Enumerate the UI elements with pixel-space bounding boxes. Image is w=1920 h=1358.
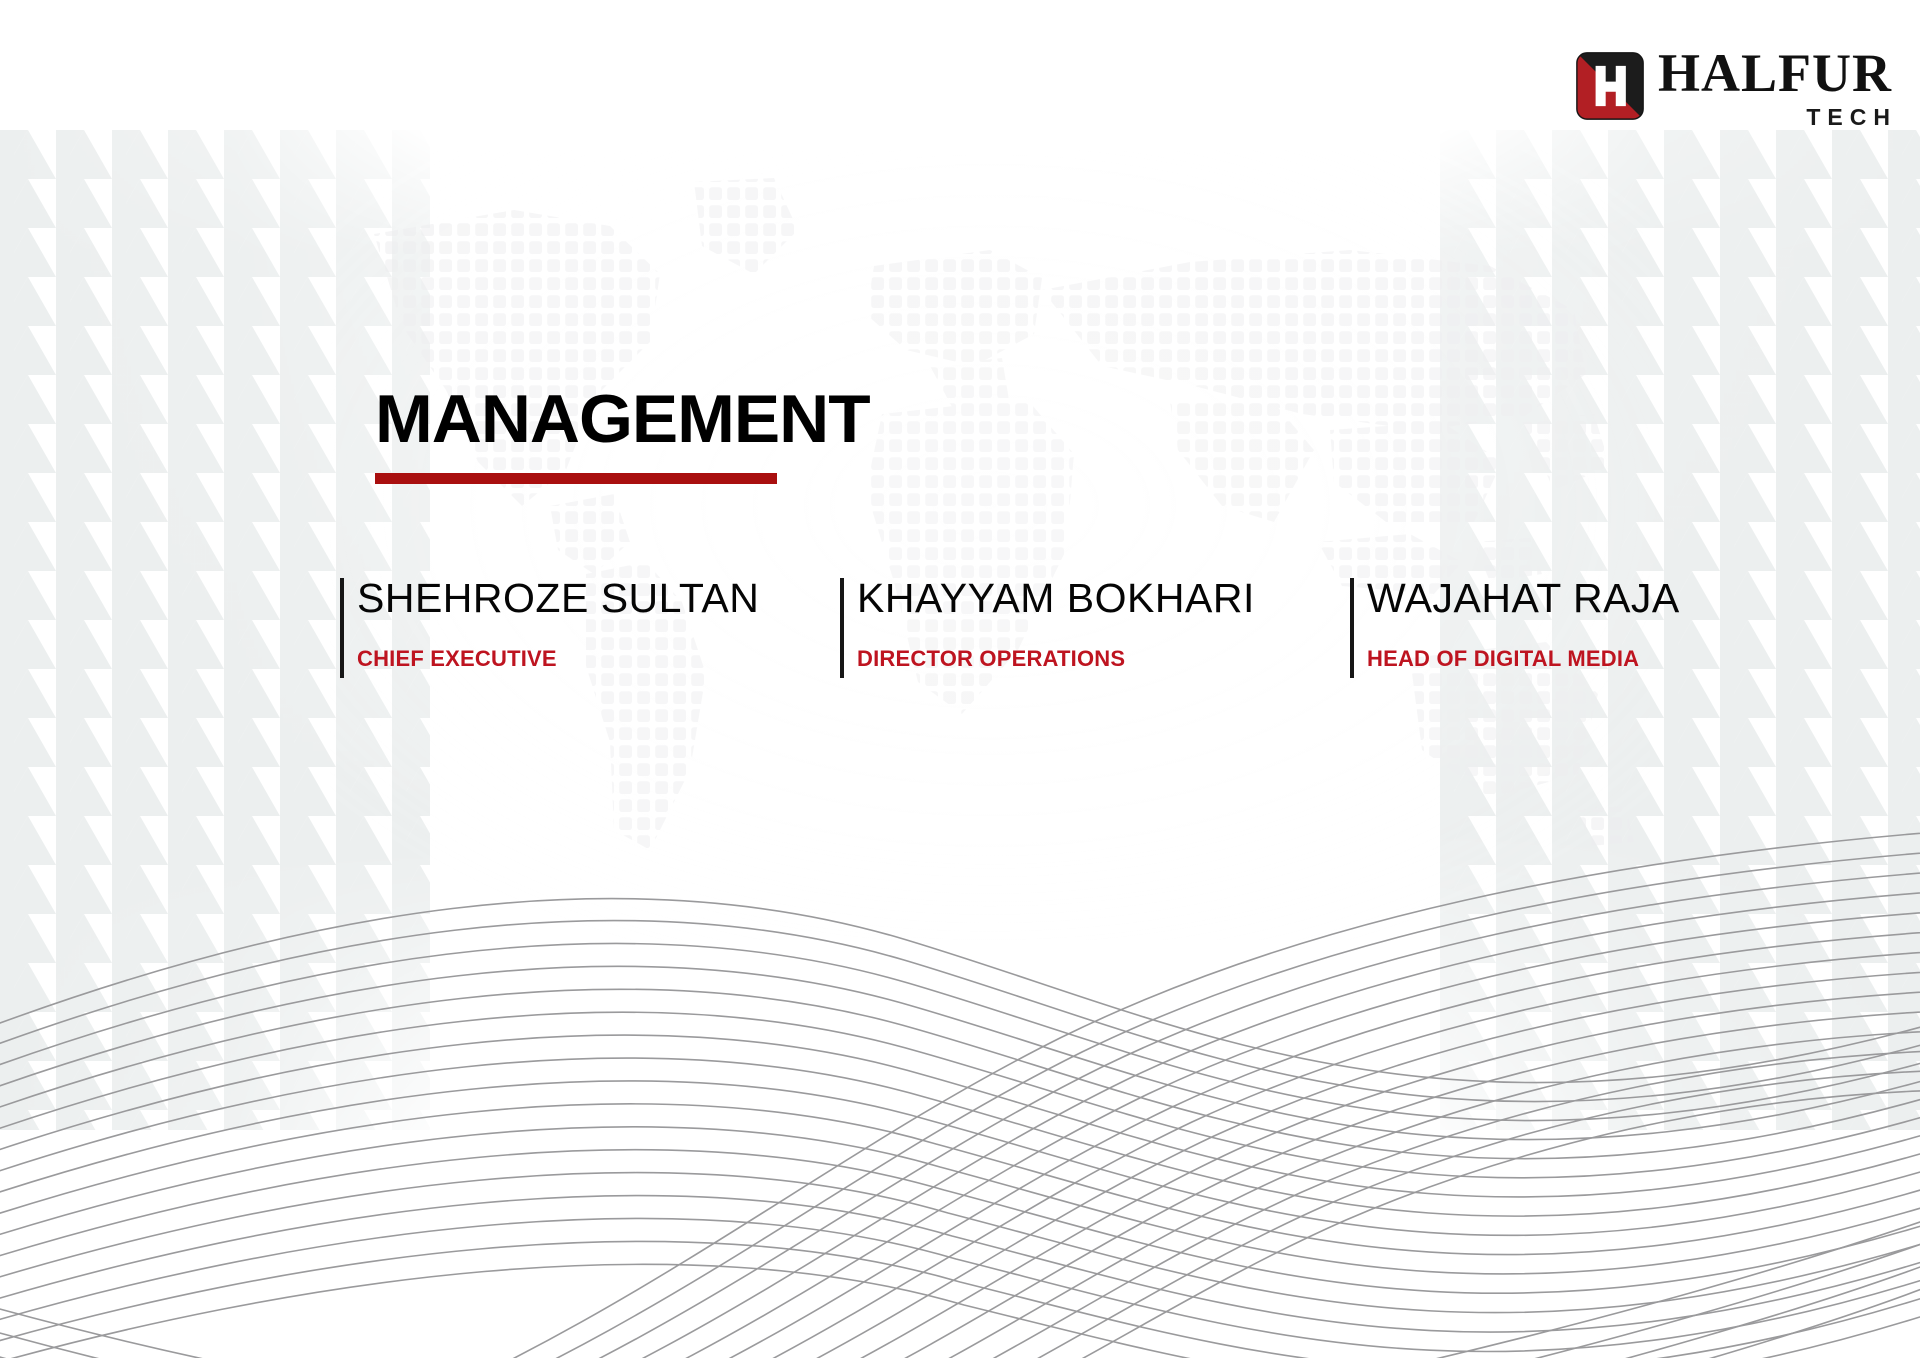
person-role: HEAD OF DIGITAL MEDIA (1367, 646, 1750, 672)
person-name: KHAYYAM BOKHARI (857, 578, 1350, 619)
person-role: DIRECTOR OPERATIONS (857, 646, 1350, 672)
world-map-dots (330, 150, 1650, 940)
person-card-1[interactable]: SHEHROZE SULTAN CHIEF EXECUTIVE (340, 578, 840, 672)
halfur-logo-mark-icon (1574, 50, 1646, 122)
person-name: SHEHROZE SULTAN (357, 578, 840, 619)
wave-lines-decoration (0, 738, 1920, 1358)
brand-subname: TECH (1806, 104, 1897, 131)
title-accent-rule (375, 473, 777, 484)
brand-logo[interactable]: HALFUR TECH (1574, 48, 1892, 131)
person-name: WAJAHAT RAJA (1367, 578, 1750, 619)
person-card-2[interactable]: KHAYYAM BOKHARI DIRECTOR OPERATIONS (840, 578, 1350, 672)
person-role: CHIEF EXECUTIVE (357, 646, 840, 672)
page-title-block: MANAGEMENT (375, 385, 860, 484)
background-decoration (0, 0, 1920, 1358)
management-list: SHEHROZE SULTAN CHIEF EXECUTIVE KHAYYAM … (340, 578, 1750, 672)
person-card-3[interactable]: WAJAHAT RAJA HEAD OF DIGITAL MEDIA (1350, 578, 1750, 672)
brand-logo-text: HALFUR TECH (1658, 48, 1892, 131)
brand-name: HALFUR (1658, 48, 1892, 100)
slide-management: HALFUR TECH MANAGEMENT SHEHROZE SULTAN C… (0, 0, 1920, 1358)
page-title: MANAGEMENT (375, 385, 870, 453)
